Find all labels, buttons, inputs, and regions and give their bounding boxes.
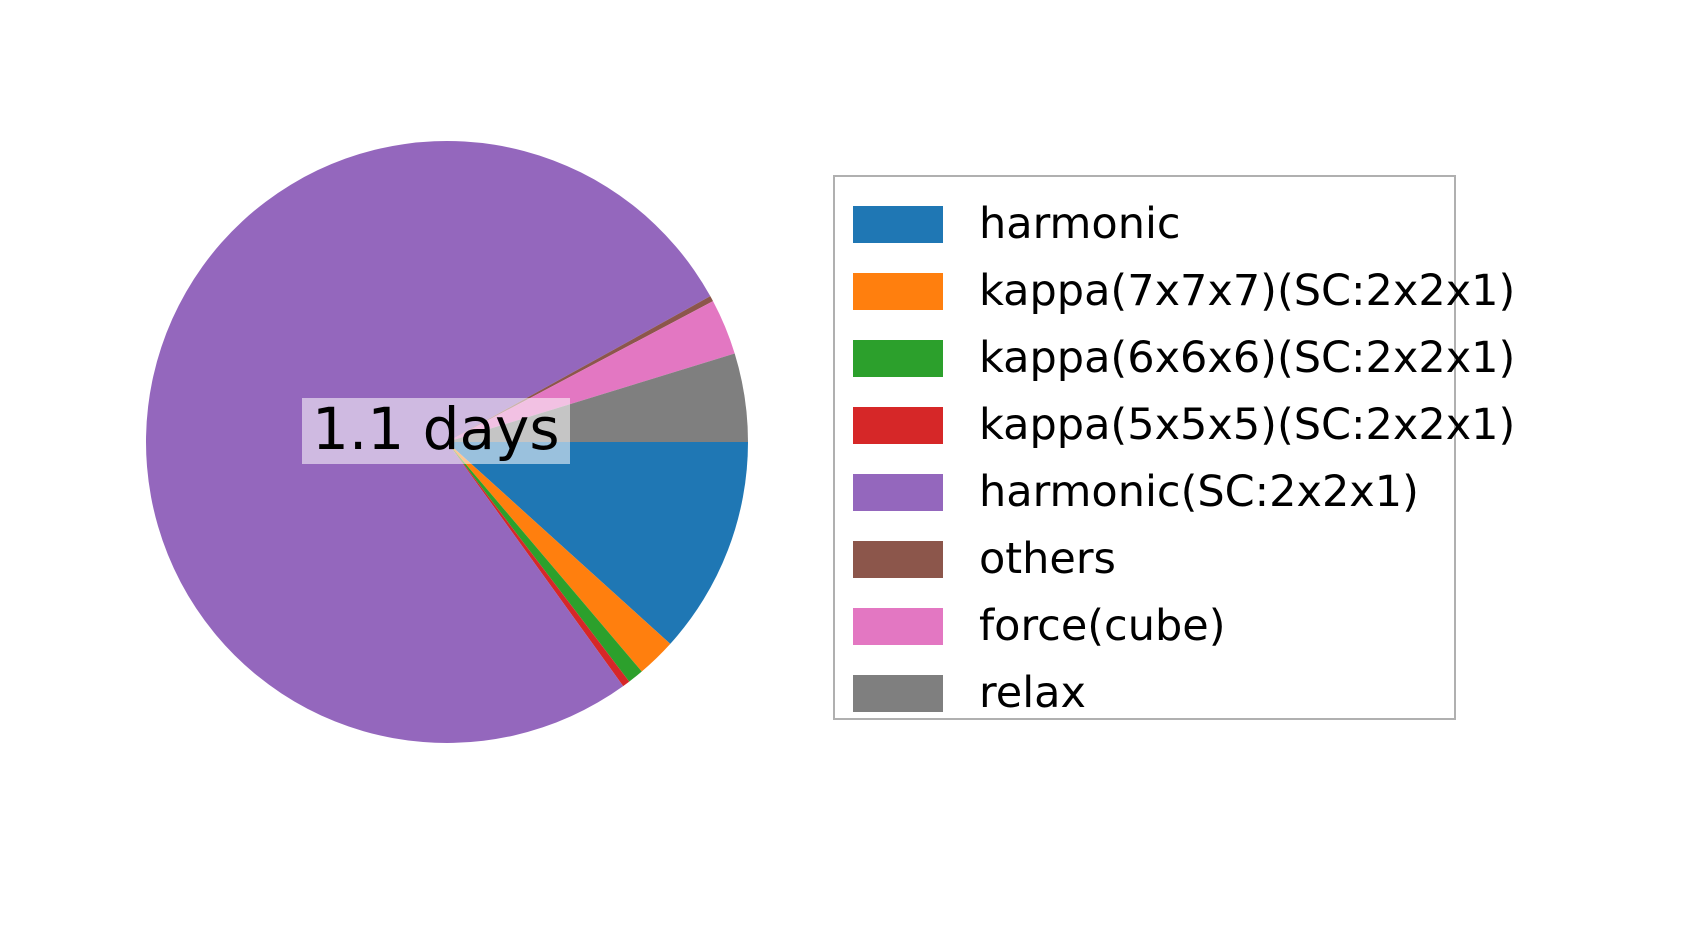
legend-swatch-icon <box>853 541 943 578</box>
legend-item-label: kappa(6x6x6)(SC:2x2x1) <box>979 337 1515 380</box>
legend-swatch-icon <box>853 340 943 377</box>
legend-item-label: harmonic(SC:2x2x1) <box>979 471 1419 514</box>
legend-item-force-cube-[interactable]: force(cube) <box>853 593 1438 660</box>
pie-center-label: 1.1 days <box>302 398 570 464</box>
legend-item-harmonic-sc-2x2x1-[interactable]: harmonic(SC:2x2x1) <box>853 459 1438 526</box>
legend-item-kappa-6x6x6-sc-2x2x1-[interactable]: kappa(6x6x6)(SC:2x2x1) <box>853 325 1438 392</box>
legend-item-kappa-5x5x5-sc-2x2x1-[interactable]: kappa(5x5x5)(SC:2x2x1) <box>853 392 1438 459</box>
legend-box: harmonickappa(7x7x7)(SC:2x2x1)kappa(6x6x… <box>833 175 1456 720</box>
legend-item-kappa-7x7x7-sc-2x2x1-[interactable]: kappa(7x7x7)(SC:2x2x1) <box>853 258 1438 325</box>
legend-swatch-icon <box>853 608 943 645</box>
legend-item-label: relax <box>979 672 1086 715</box>
legend-item-relax[interactable]: relax <box>853 660 1438 727</box>
legend-item-label: kappa(5x5x5)(SC:2x2x1) <box>979 404 1515 447</box>
legend-item-label: harmonic <box>979 203 1181 246</box>
legend-swatch-icon <box>853 273 943 310</box>
legend-swatch-icon <box>853 675 943 712</box>
legend-items: harmonickappa(7x7x7)(SC:2x2x1)kappa(6x6x… <box>853 191 1438 727</box>
legend-item-harmonic[interactable]: harmonic <box>853 191 1438 258</box>
legend-swatch-icon <box>853 206 943 243</box>
legend-item-label: others <box>979 538 1116 581</box>
legend-swatch-icon <box>853 407 943 444</box>
legend-item-label: force(cube) <box>979 605 1225 648</box>
legend-item-label: kappa(7x7x7)(SC:2x2x1) <box>979 270 1515 313</box>
legend-item-others[interactable]: others <box>853 526 1438 593</box>
figure-canvas: 1.1 days harmonickappa(7x7x7)(SC:2x2x1)k… <box>0 0 1696 951</box>
legend-swatch-icon <box>853 474 943 511</box>
